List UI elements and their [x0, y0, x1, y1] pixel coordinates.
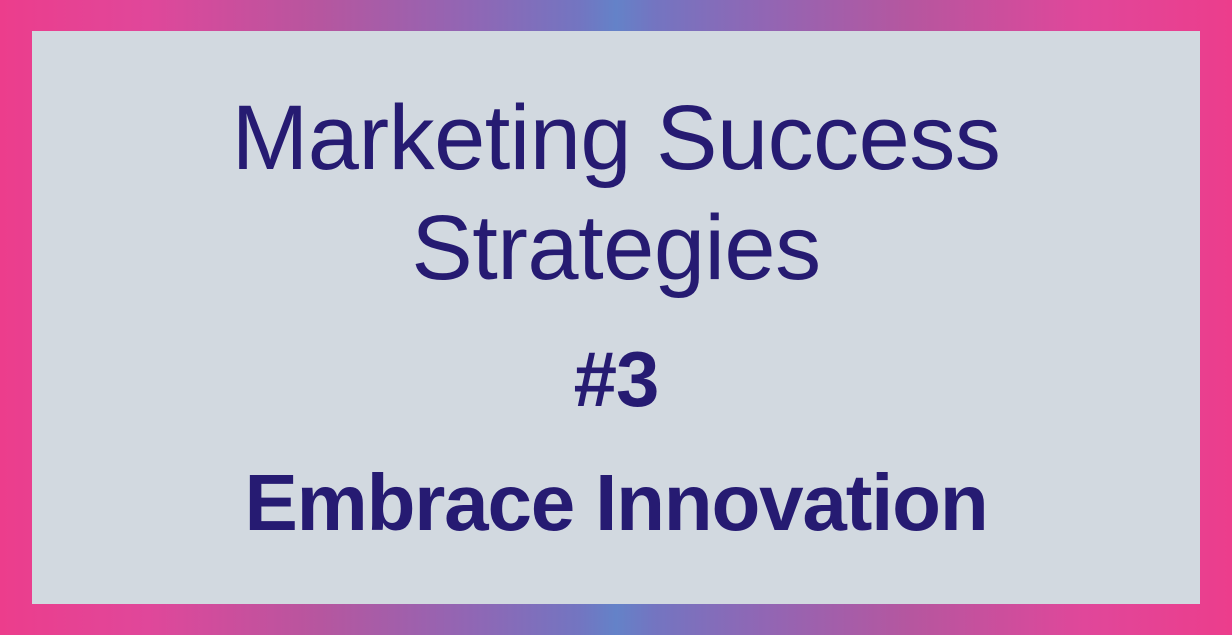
slide-headline-block: Marketing Success Strategies #3 Embrace … [32, 84, 1200, 550]
slide-gradient-frame: Marketing Success Strategies #3 Embrace … [0, 0, 1232, 635]
slide-title-line-1: Marketing Success [50, 84, 1182, 193]
slide-rank-number: #3 [50, 329, 1182, 430]
slide-title-line-2: Strategies [50, 194, 1182, 303]
slide-tip-text: Embrace Innovation [50, 455, 1182, 551]
slide-content-panel: Marketing Success Strategies #3 Embrace … [32, 31, 1200, 604]
